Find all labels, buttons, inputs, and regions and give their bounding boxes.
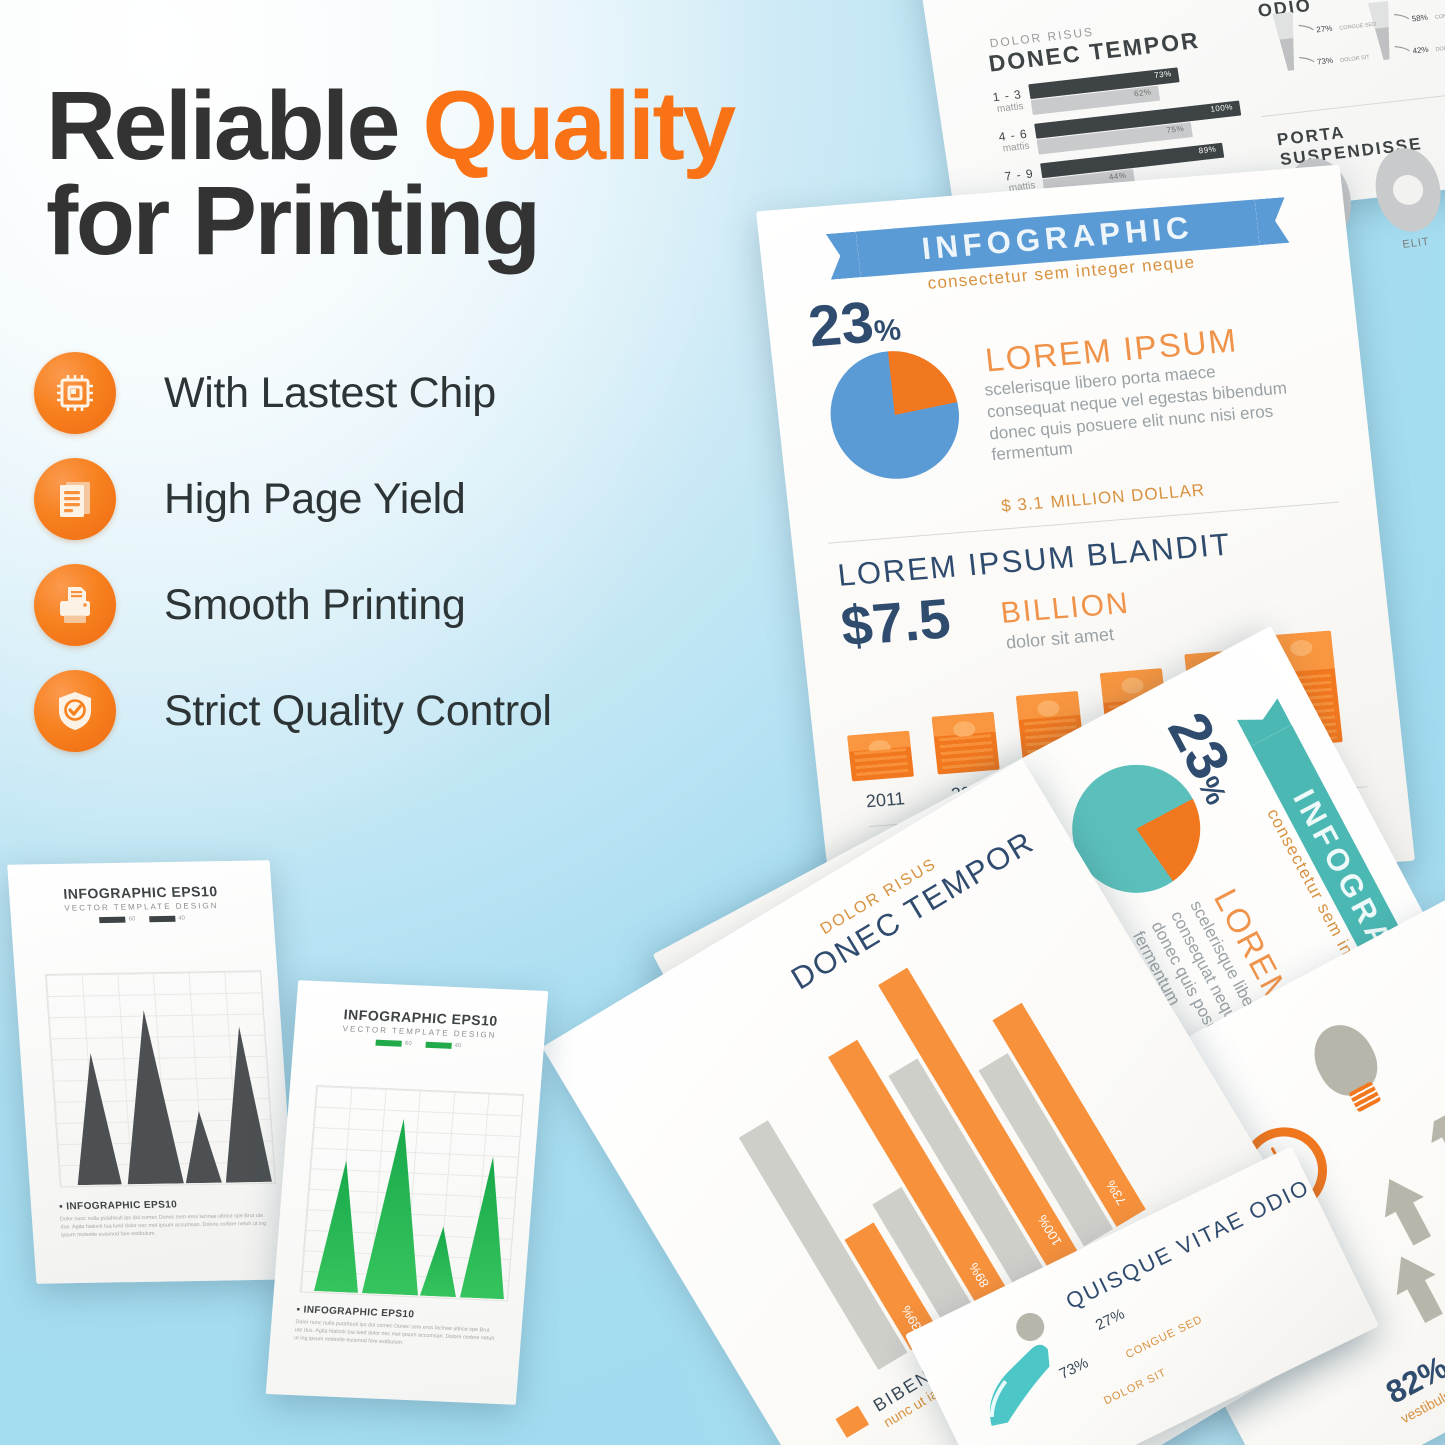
bar-label: 1 - 3 mattis [973, 87, 1024, 117]
printer-icon [34, 564, 116, 646]
pie-percent-label: 23% [805, 286, 903, 360]
feature-list: With Lastest Chip High Page Yield [34, 340, 674, 764]
spike-chart [45, 970, 274, 1185]
lightbulb-icon [1303, 1014, 1388, 1105]
svg-text:CONG: CONG [1434, 13, 1445, 21]
feature-item-chip: With Lastest Chip [34, 340, 674, 446]
funnel-diagram: 27%73% 58%42% CONGUE SEDDOLOR SIT CONGDO… [1258, 0, 1445, 103]
shield-check-icon [34, 670, 116, 752]
legend-swatch [836, 1406, 870, 1438]
svg-text:73%: 73% [1316, 56, 1333, 67]
eps-key: 60 [376, 1040, 412, 1048]
document-icon [34, 458, 116, 540]
person-pct-right: 27% [1093, 1306, 1127, 1334]
eps-footer: ▪ INFOGRAPHIC EPS10 Dolor nunc nulla put… [59, 1198, 272, 1240]
year-bar [932, 712, 1000, 775]
money-stat: $ 3.1 MILLION DOLLAR [1000, 474, 1207, 518]
eps-title: INFOGRAPHIC EPS10 [9, 882, 272, 903]
key-swatch [99, 917, 125, 923]
feature-item-smooth-printing: Smooth Printing [34, 552, 674, 658]
eps-footer-body: Dolor nunc nulla putaheuti ips dol comec… [294, 1318, 498, 1351]
feature-label: Strict Quality Control [164, 687, 552, 736]
person-sub-left: CONGUE SED [1124, 1313, 1205, 1361]
feature-item-page-yield: High Page Yield [34, 446, 674, 552]
feature-item-quality-control: Strict Quality Control [34, 658, 674, 764]
pill-icon [1370, 145, 1445, 235]
year-bar [847, 731, 914, 782]
chip-icon [34, 352, 116, 434]
product-marketing-image: Reliable Quality for Printing With Laste… [0, 0, 1445, 1445]
headline-line-2: for Printing [46, 173, 876, 268]
eps-key: 40 [425, 1042, 461, 1050]
svg-text:42%: 42% [1412, 45, 1429, 56]
eps-header: INFOGRAPHIC EPS10 VECTOR TEMPLATE DESIGN… [9, 882, 274, 924]
eps-key: 40 [149, 916, 185, 923]
blandit-value: $7.5 [838, 585, 954, 658]
svg-text:DOLO: DOLO [1435, 45, 1445, 53]
eps-sheet-grayscale: INFOGRAPHIC EPS10 VECTOR TEMPLATE DESIGN… [7, 860, 299, 1284]
svg-text:58%: 58% [1411, 13, 1428, 24]
year-label: 2011 [849, 787, 921, 813]
eps-footer: ▪ INFOGRAPHIC EPS10 Dolor nunc nulla put… [294, 1304, 499, 1351]
page-title: Reliable Quality for Printing [46, 78, 876, 268]
eps-sheet-green: INFOGRAPHIC EPS10 VECTOR TEMPLATE DESIGN… [266, 980, 548, 1405]
feature-label: High Page Yield [164, 475, 466, 524]
key-swatch [425, 1042, 451, 1049]
headline-accent: Quality [422, 71, 733, 180]
key-swatch [376, 1040, 402, 1047]
feature-label: Smooth Printing [164, 581, 465, 630]
feature-label: With Lastest Chip [164, 369, 496, 418]
svg-text:CONGUE SED: CONGUE SED [1339, 22, 1377, 32]
bar-label: 4 - 6 mattis [979, 127, 1030, 157]
eps-footer-title: ▪ INFOGRAPHIC EPS10 [59, 1198, 270, 1213]
eps-key: 60 [99, 917, 135, 924]
svg-text:27%: 27% [1316, 24, 1333, 35]
eps-footer-body: Dolor nunc nulla putaheuti ips dol comec… [60, 1212, 272, 1240]
eps-header: INFOGRAPHIC EPS10 VECTOR TEMPLATE DESIGN… [293, 1004, 546, 1053]
headline-line-1: Reliable Quality [46, 78, 876, 173]
svg-text:DOLOR SIT: DOLOR SIT [1340, 54, 1371, 63]
eps-subtitle: VECTOR TEMPLATE DESIGN [10, 900, 273, 914]
spike-chart [300, 1085, 522, 1299]
person-sub-right: DOLOR SIT [1102, 1367, 1169, 1408]
headline-plain: Reliable [46, 71, 422, 180]
key-swatch [149, 916, 175, 922]
pie-chart [824, 346, 965, 484]
